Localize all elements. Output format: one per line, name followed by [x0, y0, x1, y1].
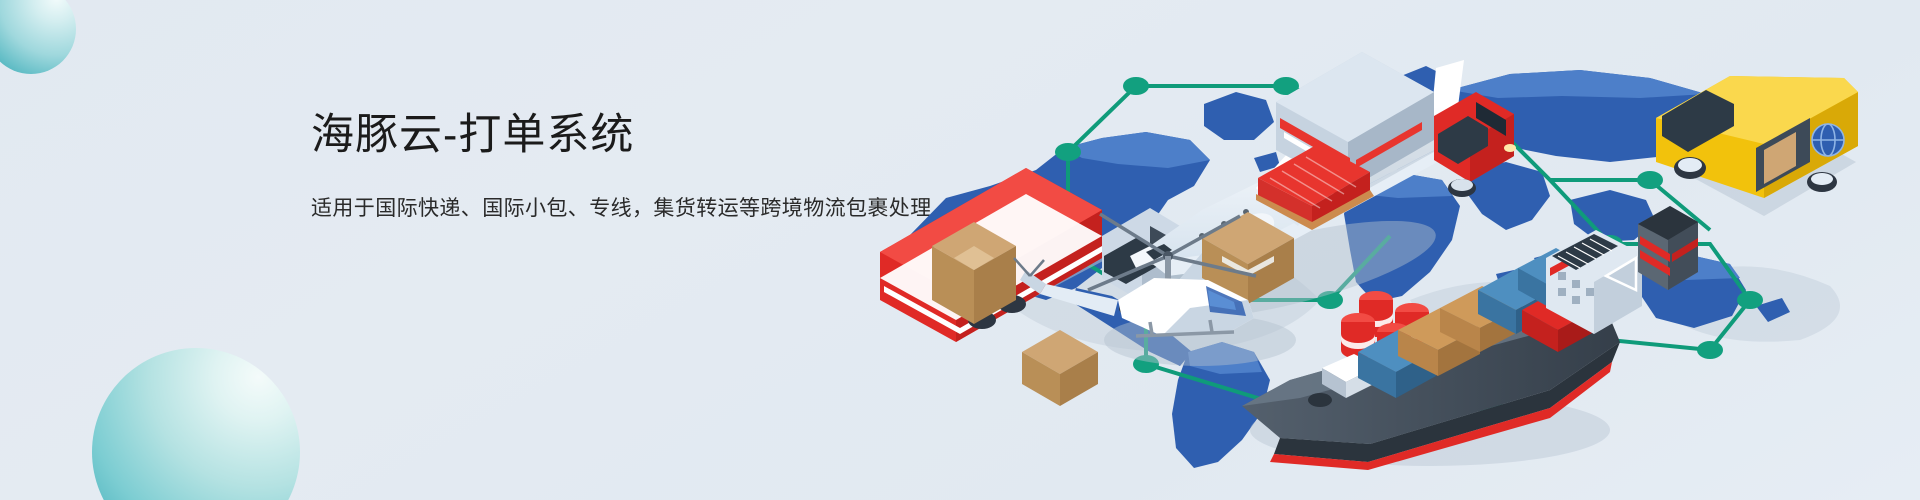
- teal-circle-top-left-icon: [0, 0, 76, 74]
- cardboard-boxes-right: [996, 330, 1098, 406]
- teal-circle-bottom-left-icon: [92, 348, 300, 500]
- global-logistics-illustration: [850, 0, 1920, 500]
- promo-banner: 海豚云-打单系统 适用于国际快递、国际小包、专线，集货转运等跨境物流包裹处理: [0, 0, 1920, 500]
